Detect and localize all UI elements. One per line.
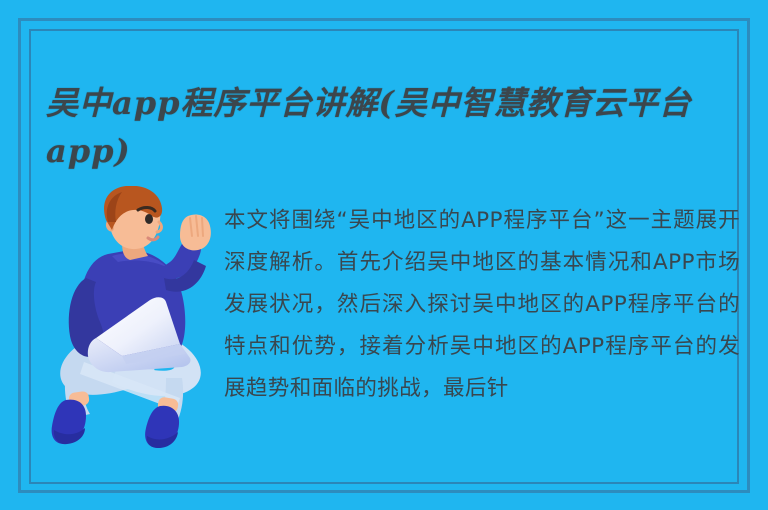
illustration-hand (180, 214, 211, 250)
hero-illustration (38, 186, 224, 448)
article-body: 本文将围绕“吴中地区的APP程序平台”这一主题展开深度解析。首先介绍吴中地区的基… (224, 200, 740, 495)
article-card: 吴中app程序平台讲解(吴中智慧教育云平台app) (0, 0, 768, 510)
page-title: 吴中app程序平台讲解(吴中智慧教育云平台app) (46, 79, 706, 175)
illustration-head (104, 186, 162, 260)
illustration-shoes (52, 400, 179, 448)
